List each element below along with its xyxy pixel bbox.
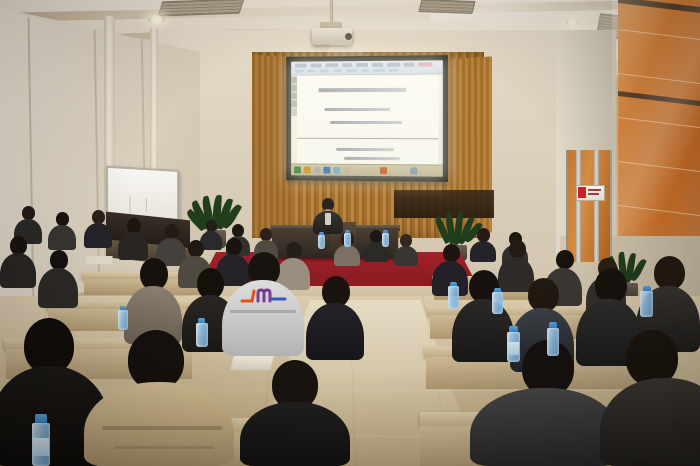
projector-lens-icon xyxy=(345,33,352,40)
projection-screen-frame xyxy=(286,55,448,182)
water-bottle xyxy=(546,322,560,356)
water-bottle xyxy=(318,232,325,249)
projector-mount-pole xyxy=(330,0,333,24)
slide-app-ribbon xyxy=(291,60,443,75)
audience-member xyxy=(38,250,78,308)
foreground-attendee-far-right xyxy=(600,330,700,466)
audience-member xyxy=(118,218,148,260)
document-on-desk xyxy=(85,256,112,264)
jm-logo xyxy=(240,286,288,306)
audience-member xyxy=(306,276,364,360)
slide-heading-line xyxy=(318,88,406,92)
audience-member xyxy=(394,234,418,266)
air-vent-icon xyxy=(418,0,475,14)
ceiling-downlight xyxy=(566,19,579,26)
door-rail xyxy=(594,150,599,262)
projection-screen xyxy=(291,60,443,176)
jacket-fold xyxy=(114,446,214,449)
foreground-attendee-center xyxy=(240,360,350,466)
foreground-attendee-khaki-jacket xyxy=(84,330,234,466)
water-bottle xyxy=(344,230,351,247)
conference-room-photo xyxy=(0,0,700,466)
slide-document-page xyxy=(297,75,439,164)
water-bottle xyxy=(506,326,521,362)
sign-red-block xyxy=(578,187,586,198)
water-bottle xyxy=(382,230,389,247)
water-bottle xyxy=(448,282,459,309)
water-bottle xyxy=(640,286,653,317)
door-rail xyxy=(576,150,581,262)
water-bottle xyxy=(492,288,503,314)
presenter-shirt xyxy=(325,213,331,225)
sign-text-line xyxy=(588,193,599,195)
slide-body-line xyxy=(330,121,402,124)
ceiling-downlight xyxy=(148,15,165,24)
audience-member xyxy=(0,236,36,288)
water-bottle xyxy=(196,318,208,347)
audience-member xyxy=(48,212,76,250)
slide-lower-line xyxy=(336,148,394,151)
water-bottle xyxy=(118,306,128,330)
wall-sign xyxy=(576,185,605,201)
jacket-fold xyxy=(102,426,222,430)
audience-member xyxy=(84,210,112,248)
document-on-desk xyxy=(230,356,273,370)
presenter xyxy=(313,198,343,234)
foreground-attendee-right xyxy=(470,340,620,466)
slide-taskbar xyxy=(291,163,443,176)
slide-divider xyxy=(297,138,439,139)
jacket-seam xyxy=(230,310,296,313)
jm-logo-icon xyxy=(240,286,288,306)
slide-lower-line xyxy=(344,157,400,160)
slide-body-line xyxy=(324,108,390,111)
audience-member xyxy=(470,228,496,262)
attendee-with-logo-jacket xyxy=(222,252,304,356)
water-bottle xyxy=(30,414,52,466)
sign-text-line xyxy=(588,189,601,191)
side-door[interactable] xyxy=(566,150,612,262)
